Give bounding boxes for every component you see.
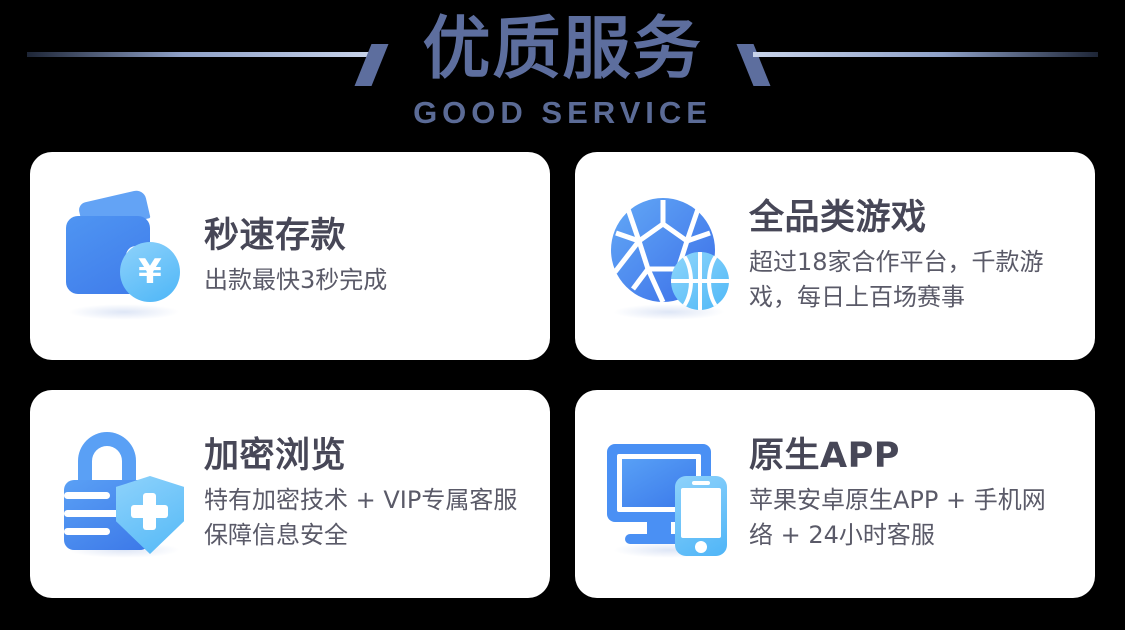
feature-card-instant-deposit[interactable]: ¥ 秒速存款 出款最快3秒完成 — [30, 152, 550, 360]
padlock-stripe — [64, 528, 110, 535]
card-title: 全品类游戏 — [749, 197, 1073, 239]
feature-card-encrypted-browsing[interactable]: 加密浏览 特有加密技术 + VIP专属客服保障信息安全 — [30, 390, 550, 598]
smartphone-home-button-icon — [695, 541, 707, 553]
padlock-stripe — [64, 492, 110, 499]
card-text-block: 全品类游戏 超过18家合作平台，千款游戏，每日上百场赛事 — [735, 197, 1073, 315]
feature-card-all-games[interactable]: 全品类游戏 超过18家合作平台，千款游戏，每日上百场赛事 — [575, 152, 1095, 360]
card-text-block: 原生APP 苹果安卓原生APP + 手机网络 + 24小时客服 — [735, 435, 1073, 553]
header-decor-line-right — [753, 52, 1098, 57]
page-subtitle: GOOD SERVICE — [0, 96, 1125, 130]
feature-card-grid: ¥ 秒速存款 出款最快3秒完成 — [30, 152, 1095, 598]
card-title: 秒速存款 — [204, 215, 528, 257]
page-header: 优质服务 GOOD SERVICE — [0, 0, 1125, 150]
card-title: 原生APP — [749, 435, 1073, 477]
card-title: 加密浏览 — [204, 435, 528, 477]
padlock-with-shield-plus-icon — [58, 428, 190, 560]
card-description: 出款最快3秒完成 — [204, 263, 524, 298]
plus-icon — [131, 505, 168, 518]
wallet-with-yuan-coin-icon: ¥ — [58, 190, 190, 322]
feature-card-native-app[interactable]: 原生APP 苹果安卓原生APP + 手机网络 + 24小时客服 — [575, 390, 1095, 598]
card-text-block: 加密浏览 特有加密技术 + VIP专属客服保障信息安全 — [190, 435, 528, 553]
card-description: 特有加密技术 + VIP专属客服保障信息安全 — [204, 483, 524, 553]
basketball-icon — [671, 252, 729, 310]
smartphone-speaker-icon — [692, 481, 710, 485]
page-title: 优质服务 — [0, 10, 1125, 90]
basketball-seam-curve-left — [671, 252, 693, 310]
yuan-coin-icon: ¥ — [120, 242, 180, 302]
monitor-with-smartphone-icon — [603, 428, 735, 560]
yuan-symbol: ¥ — [138, 255, 162, 289]
card-text-block: 秒速存款 出款最快3秒完成 — [190, 215, 528, 298]
basketball-seam-curve-right — [707, 252, 729, 310]
soccer-ball-with-basketball-icon — [603, 190, 735, 322]
smartphone-screen-icon — [681, 488, 721, 538]
card-description: 超过18家合作平台，千款游戏，每日上百场赛事 — [749, 245, 1069, 315]
card-description: 苹果安卓原生APP + 手机网络 + 24小时客服 — [749, 483, 1069, 553]
icon-shadow — [68, 304, 180, 320]
